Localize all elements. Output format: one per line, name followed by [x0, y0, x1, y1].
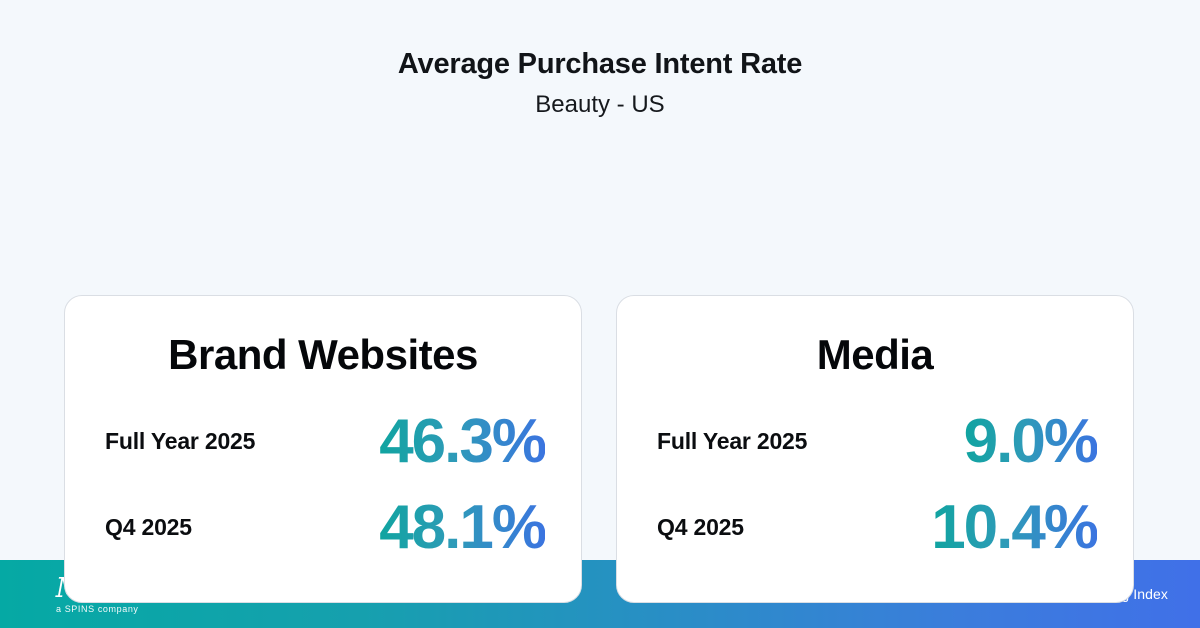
metric-card-brand-websites: Brand Websites Full Year 2025 46.3% Q4 2…	[64, 295, 582, 603]
metric-row-label: Q4 2025	[657, 514, 744, 541]
metric-row: Q4 2025 48.1%	[105, 485, 545, 571]
metric-row: Full Year 2025 46.3%	[105, 399, 545, 485]
metric-row: Full Year 2025 9.0%	[657, 399, 1097, 485]
card-heading: Brand Websites	[65, 296, 581, 378]
mikmak-tagline: a SPINS company	[56, 605, 139, 614]
metric-rows: Full Year 2025 9.0% Q4 2025 10.4%	[617, 399, 1133, 571]
metric-card-media: Media Full Year 2025 9.0% Q4 2025 10.4%	[616, 295, 1134, 603]
metric-row: Q4 2025 10.4%	[657, 485, 1097, 571]
metric-row-value: 48.1%	[379, 497, 545, 559]
infographic-page: Average Purchase Intent Rate Beauty - US…	[0, 0, 1200, 628]
metric-rows: Full Year 2025 46.3% Q4 2025 48.1%	[65, 399, 581, 571]
page-subtitle: Beauty - US	[0, 87, 1200, 123]
metric-row-value: 9.0%	[964, 411, 1097, 473]
metric-row-value: 46.3%	[379, 411, 545, 473]
metric-row-value: 10.4%	[931, 497, 1097, 559]
metric-row-label: Q4 2025	[105, 514, 192, 541]
metric-row-label: Full Year 2025	[657, 428, 807, 455]
metric-row-label: Full Year 2025	[105, 428, 255, 455]
card-heading: Media	[617, 296, 1133, 378]
header: Average Purchase Intent Rate Beauty - US	[0, 0, 1200, 123]
page-title: Average Purchase Intent Rate	[0, 48, 1200, 81]
cards-area: Brand Websites Full Year 2025 46.3% Q4 2…	[0, 123, 1200, 560]
